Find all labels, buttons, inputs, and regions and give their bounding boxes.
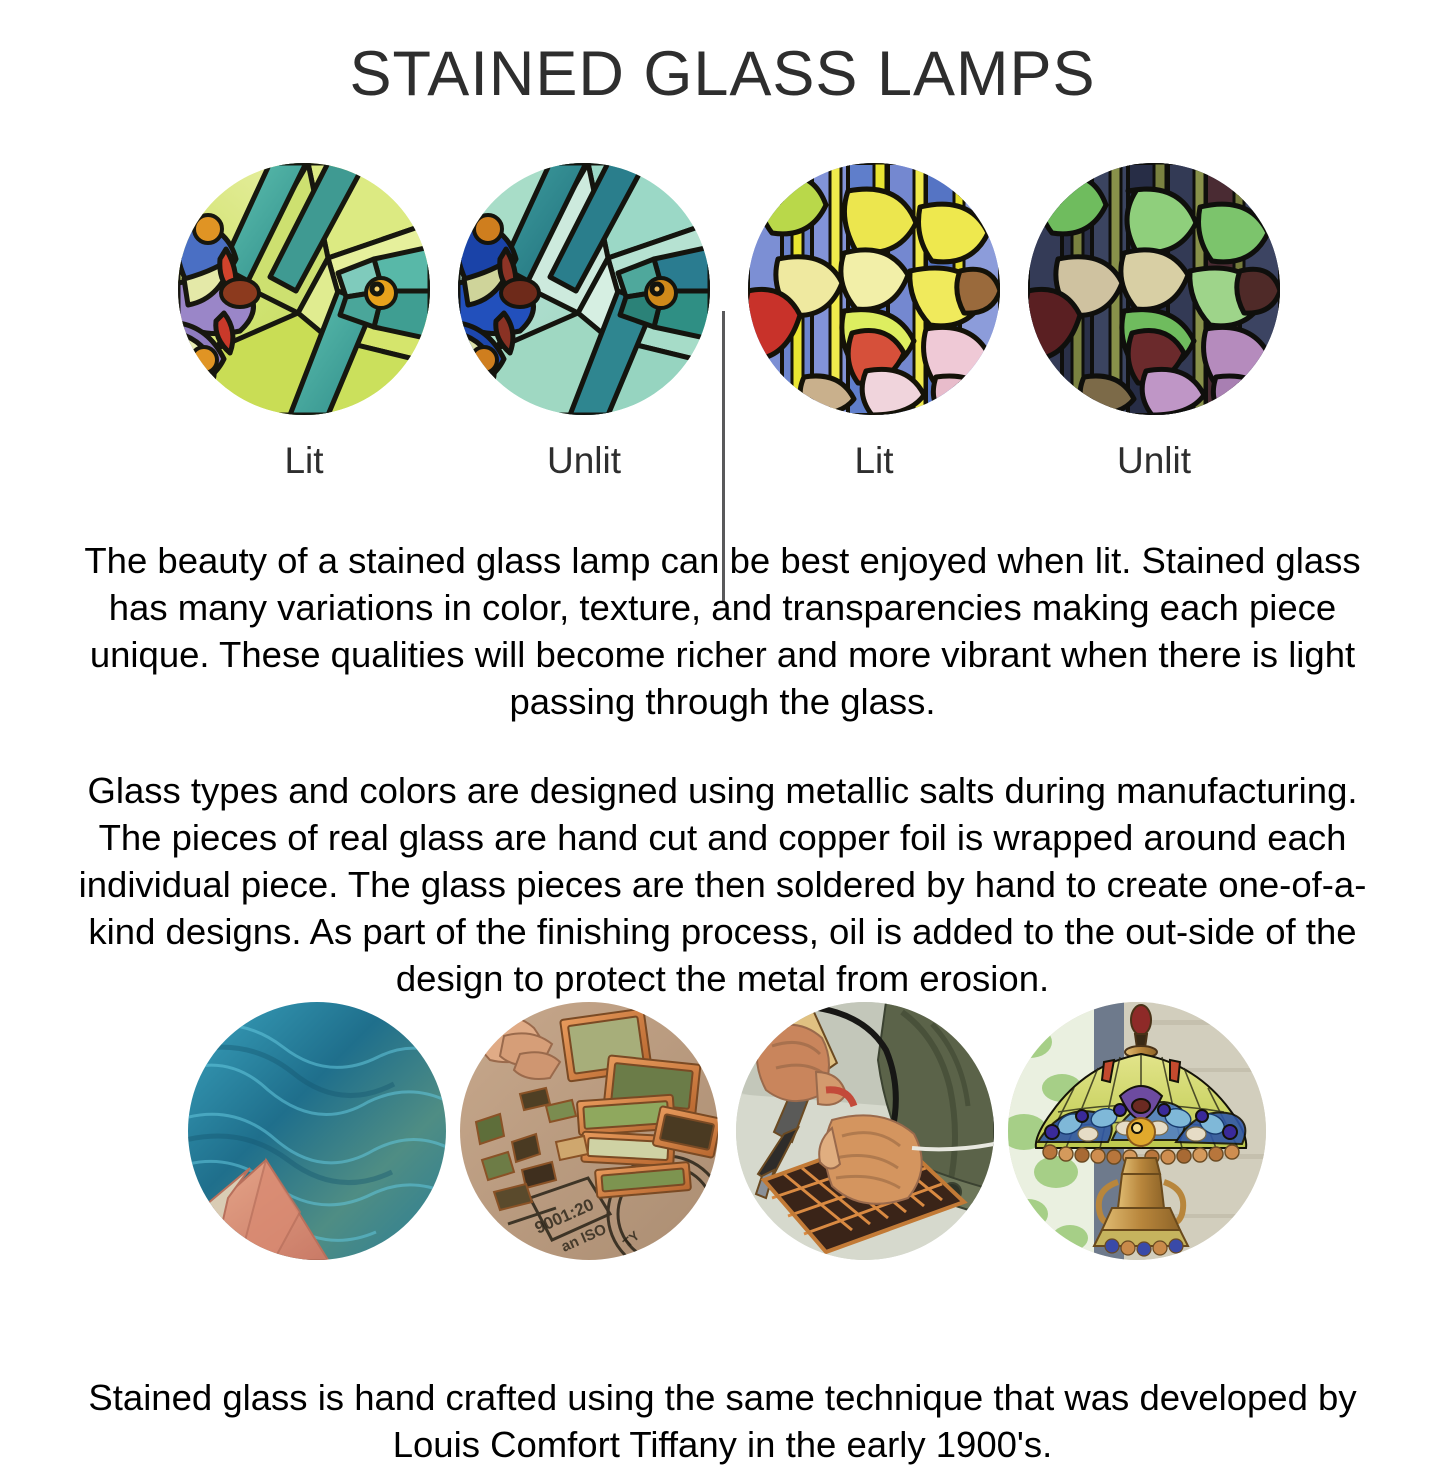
process-image-copper-foiled-glass-pieces: 9001:20 an ISO TY SUPER QU [460,1002,718,1260]
page-title: STAINED GLASS LAMPS [0,38,1445,110]
poster-page: STAINED GLASS LAMPS [0,0,1445,1445]
label-floral-unlit: Unlit [1028,440,1280,482]
comparison-labels: Lit Unlit Lit Unlit [0,440,1445,486]
label-abstract-unlit: Unlit [458,440,710,482]
process-image-hand-soldering-glass [736,1002,994,1260]
comparison-image-floral-lit [748,163,1000,415]
comparison-image-row [0,163,1445,428]
footer-caption: Stained glass is hand crafted using the … [55,1374,1390,1468]
paragraph-glass-types: Glass types and colors are designed usin… [55,767,1390,1002]
paragraph-beauty-of-lamp: The beauty of a stained glass lamp can b… [55,537,1390,725]
comparison-image-floral-unlit [1028,163,1280,415]
label-floral-lit: Lit [748,440,1000,482]
comparison-image-abstract-lit [178,163,430,415]
comparison-image-abstract-unlit [458,163,710,415]
process-image-row: 9001:20 an ISO TY SUPER QU [0,1002,1445,1264]
process-image-finished-tiffany-lamp [1008,1002,1266,1260]
label-abstract-lit: Lit [178,440,430,482]
process-image-blue-art-glass-sheets [188,1002,446,1260]
